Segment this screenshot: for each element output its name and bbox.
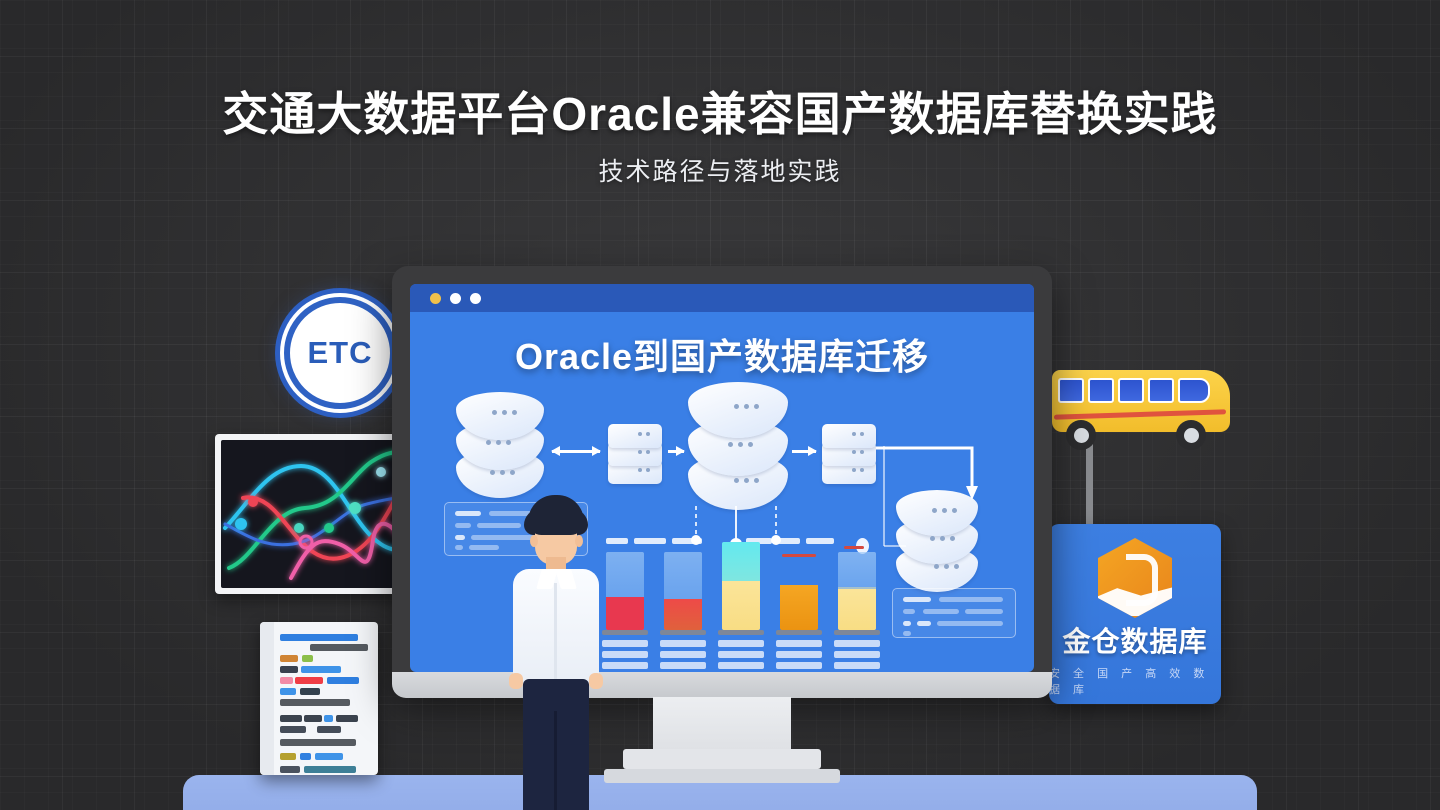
kingbase-logo-icon (1098, 538, 1172, 618)
gauge-bar-2[interactable] (664, 552, 702, 644)
presenter-figure (497, 495, 615, 810)
etc-badge-label: ETC (308, 335, 373, 371)
monitor-stand-base-upper (623, 749, 821, 769)
etc-badge-icon: ETC (284, 297, 396, 409)
doc-panel-gutter (260, 622, 274, 775)
slide-canvas: 交通大数据平台Oracle兼容国产数据库替换实践 技术路径与落地实践 ETC (0, 0, 1440, 810)
bus-wheel-rear (1176, 420, 1206, 450)
monitor-stand-base-lower (604, 769, 840, 783)
line-chart-panel (215, 434, 407, 594)
info-card-right[interactable] (892, 588, 1016, 638)
monitor-stand-neck (653, 697, 791, 749)
line-chart-svg (221, 440, 401, 588)
window-titlebar (410, 284, 1034, 312)
connector-feedback-line (872, 442, 922, 554)
kingbase-brand: 金仓数据库 (1062, 620, 1207, 660)
diagram-node-source-db[interactable] (456, 390, 544, 502)
screen-title: Oracle到国产数据库迁移 (410, 328, 1034, 380)
bus-icon (1048, 366, 1240, 448)
kingbase-card[interactable]: 金仓数据库 安 全 国 产 高 效 数 据 库 (1049, 524, 1221, 704)
diagram-node-middleware-a[interactable] (608, 422, 662, 484)
monitor-chin (392, 672, 1052, 698)
gauge-bar-3[interactable] (722, 542, 760, 644)
connector-source-to-middleware-a (552, 450, 600, 453)
page-title: 交通大数据平台Oracle兼容国产数据库替换实践 (0, 78, 1440, 144)
close-dot-icon[interactable] (470, 293, 481, 304)
line-chart-canvas (221, 440, 401, 588)
maximize-dot-icon[interactable] (450, 293, 461, 304)
connector-middleware-a-to-central (668, 450, 684, 453)
page-subtitle: 技术路径与落地实践 (0, 152, 1440, 188)
connector-central-to-middleware-b (792, 450, 816, 453)
gauge-bar-4[interactable] (780, 568, 818, 644)
diagram-node-middleware-b[interactable] (822, 422, 876, 484)
doc-panel (260, 622, 378, 775)
bus-wheel-front (1066, 420, 1096, 450)
kingbase-tagline: 安 全 国 产 高 效 数 据 库 (1049, 665, 1221, 697)
diagram-node-central-db[interactable] (688, 378, 788, 512)
gauge-bar-5[interactable] (838, 552, 876, 644)
minimize-dot-icon[interactable] (430, 293, 441, 304)
